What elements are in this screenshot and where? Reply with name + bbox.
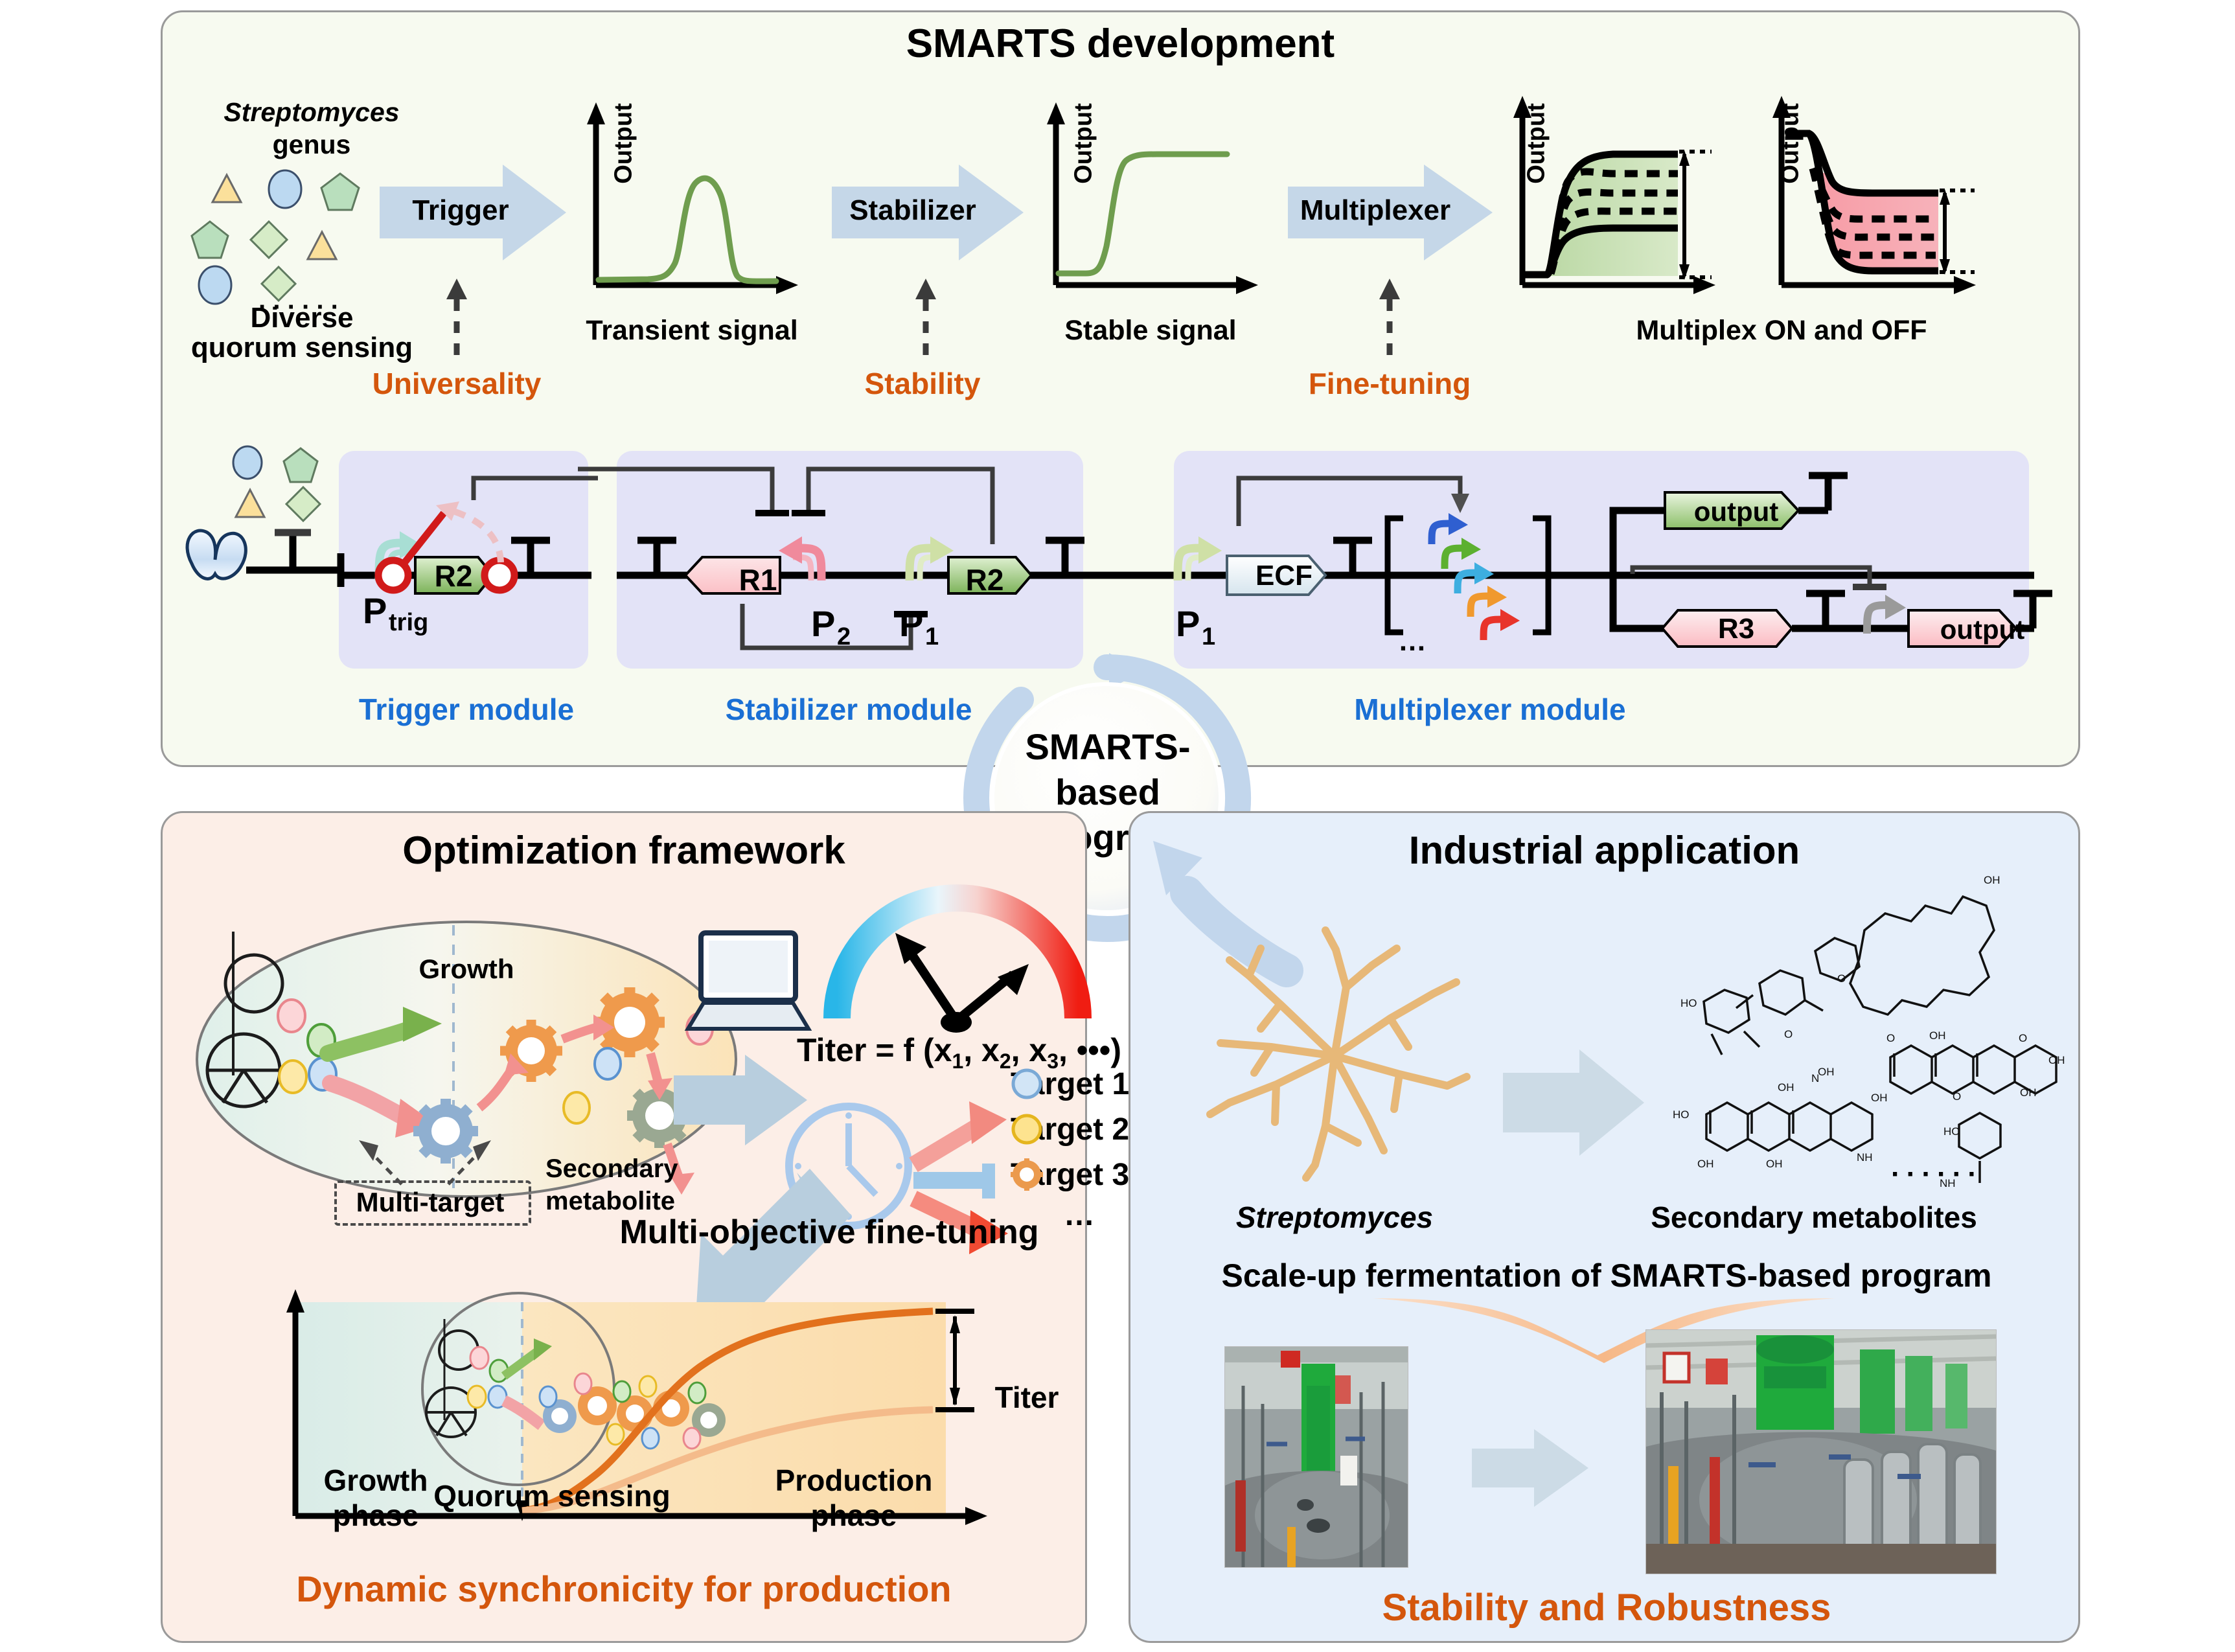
note-universality: Universality [353, 366, 560, 401]
promoter-p1b-subscript: 1 [1202, 623, 1241, 651]
svg-text:OH: OH [1929, 1029, 1946, 1042]
multiplexer-ellipsis: … [1386, 625, 1438, 658]
svg-text:O: O [1886, 1032, 1895, 1044]
promoter-p2-subscript: 2 [837, 623, 876, 651]
svg-text:OH: OH [1818, 1066, 1835, 1078]
chart1-caption: Transient signal [562, 315, 821, 347]
finetuning-dashed-arrow-icon [1380, 279, 1399, 356]
promoter-ptrig-subscript: trig [389, 609, 466, 637]
svg-text:HO: HO [1943, 1125, 1960, 1138]
scaleup-label: Scale-up fermentation of SMARTS-based pr… [1140, 1257, 2073, 1294]
source-caption-2: quorum sensing [153, 332, 451, 364]
universality-dashed-arrow-icon [447, 279, 466, 356]
organism-label: Streptomyces [1198, 1200, 1471, 1235]
svg-text:OH: OH [2020, 1086, 2037, 1099]
chart-stable-signal [1030, 97, 1276, 304]
page-title: SMARTS development [161, 21, 2080, 67]
module-label-multiplexer: Multiplexer module [1231, 692, 1749, 727]
titer-gauge [823, 907, 1095, 1030]
svg-text:HO: HO [1680, 997, 1697, 1009]
badge-line-1: SMARTS- [972, 726, 1244, 768]
svg-text:OH: OH [1871, 1092, 1888, 1104]
svg-text:OH: OH [1778, 1081, 1794, 1094]
list-item: Target 2 [1011, 1107, 1129, 1152]
growth-label: Growth [376, 954, 557, 985]
target-3-icon [1011, 1158, 1043, 1191]
cds-r2-trigger-label: R2 [415, 558, 492, 593]
titer-bracket-label: Titer [965, 1380, 1088, 1415]
products-label: Secondary metabolites [1574, 1200, 2054, 1235]
fermenter-photo-small [1224, 1346, 1408, 1568]
laptop-icon [687, 926, 810, 1037]
badge-line-2: based [972, 771, 1244, 813]
optimization-footer: Dynamic synchronicity for production [174, 1568, 1074, 1610]
industrial-footer: Stability and Robustness [1140, 1586, 2073, 1629]
svg-text:O: O [2019, 1032, 2027, 1044]
titer-formula-prefix: Titer = f (x [797, 1032, 952, 1068]
source-genus-line1: Streptomyces [185, 97, 438, 128]
optimization-title: Optimization framework [161, 828, 1087, 873]
quorum-sensing-label: Quorum sensing [409, 1478, 694, 1513]
arrow-label-multiplexer: Multiplexer [1288, 194, 1463, 227]
promoter-p1-subscript: 1 [925, 623, 964, 651]
production-phase-line2: phase [744, 1498, 964, 1533]
production-phase-line1: Production [744, 1463, 964, 1498]
list-item: Target 3 [1011, 1152, 1129, 1197]
target-1-icon [1011, 1068, 1043, 1100]
titer-mid-1: , x [963, 1032, 1000, 1068]
multi-target-label: Multi-target [334, 1187, 526, 1218]
to-metabolites-block-arrow-icon [1503, 1044, 1652, 1161]
metabolites-dots: ······ [1840, 1158, 2034, 1191]
chart4-y-axis-label: Output [1777, 66, 1805, 222]
svg-text:OH: OH [1766, 1158, 1783, 1170]
chart1-y-axis-label: Output [610, 66, 638, 222]
cds-r2-stabilizer-label: R2 [946, 562, 1024, 597]
note-fine-tuning: Fine-tuning [1279, 366, 1500, 401]
note-stability: Stability [825, 366, 1020, 401]
svg-text:O: O [1953, 1090, 1961, 1103]
list-item: Target 1 [1011, 1061, 1129, 1107]
chart-transient-signal [570, 97, 816, 304]
stability-dashed-arrow-icon [916, 279, 935, 356]
chart2-y-axis-label: Output [1070, 66, 1098, 222]
svg-text:HO: HO [1673, 1108, 1690, 1121]
arrow-label-stabilizer: Stabilizer [832, 194, 994, 227]
chart2-caption: Stable signal [1034, 315, 1267, 347]
target-2-icon [1011, 1113, 1043, 1145]
svg-text:OH: OH [2048, 1054, 2065, 1066]
cds-output-green-label: output [1671, 496, 1801, 527]
scale-up-arrow-icon [1472, 1425, 1595, 1509]
source-genus-line2: genus [185, 130, 438, 160]
cds-r1-label: R1 [719, 562, 797, 597]
cds-ecf-label: ECF [1232, 560, 1336, 592]
cds-r3-label: R3 [1684, 613, 1788, 645]
streptomyces-mycelium-icon [1198, 920, 1471, 1179]
svg-text:OH: OH [1984, 874, 2000, 886]
fermenter-photo-large [1645, 1329, 1997, 1574]
chart3-4-caption: Multiplex ON and OFF [1542, 315, 2021, 347]
svg-text:O: O [1837, 972, 1846, 985]
svg-text:OH: OH [1697, 1158, 1714, 1170]
svg-text:O: O [1784, 1028, 1793, 1040]
multi-objective-fine-tuning-caption: Multi-objective fine-tuning [583, 1213, 1075, 1252]
cds-output-pink-label: output [1918, 614, 2047, 645]
arrow-label-trigger: Trigger [386, 194, 535, 227]
target-list: Target 1 Target 2 Target 3 … [1011, 1061, 1129, 1233]
module-label-trigger: Trigger module [304, 692, 628, 727]
source-caption-1: Diverse [179, 302, 425, 334]
chart3-y-axis-label: Output [1523, 66, 1551, 222]
